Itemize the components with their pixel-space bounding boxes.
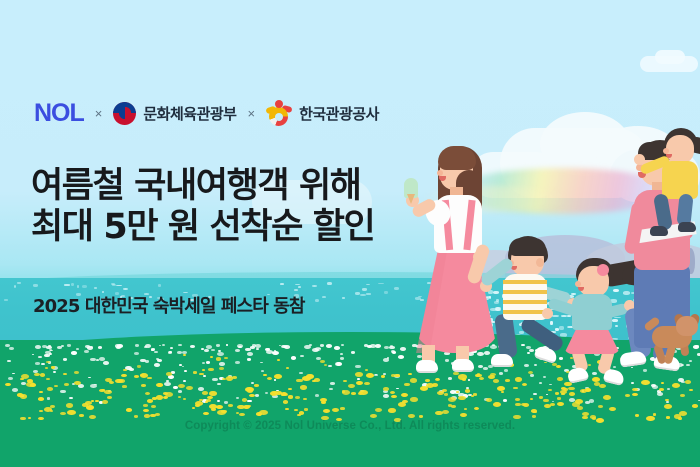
mother-hair-front — [438, 146, 476, 170]
subheadline: 2025 대한민국 숙박세일 페스타 동참 — [33, 292, 305, 318]
promo-banner: NOL × 문화체육관광부 × 한국관광공사 여름철 국내여행객 위해 최대 5… — [0, 0, 700, 467]
boy-shirt-stripe — [503, 300, 547, 304]
cloud-small-top-2 — [655, 50, 685, 64]
logo-separator-icon-1: × — [95, 106, 103, 121]
nol-brand-logo[interactable]: NOL — [34, 101, 84, 126]
mother-shoe-right — [452, 359, 474, 372]
child-shoe-front — [650, 226, 668, 236]
dog-figure — [642, 312, 700, 370]
boy-shirt-stripe — [503, 310, 547, 314]
boy-shirt-stripe — [503, 290, 547, 294]
boy-hand-front — [473, 251, 485, 263]
kto-logo-icon — [266, 100, 292, 126]
boy-shoe-back — [491, 354, 513, 367]
kto-logo-hole — [275, 113, 283, 121]
girl-hand-back — [542, 308, 553, 319]
partner-logo-mcst[interactable]: 문화체육관광부 — [113, 102, 236, 125]
child-on-shoulders-figure — [658, 128, 700, 238]
boy-ear — [536, 258, 544, 267]
child-hand — [634, 154, 645, 165]
partner-logo-row: NOL × 문화체육관광부 × 한국관광공사 — [34, 96, 379, 130]
partner-logo-kto-label: 한국관광공사 — [299, 103, 379, 124]
mother-shoe-left — [416, 360, 438, 373]
boy-hair-fringe — [509, 238, 546, 256]
child-shoe-back — [678, 222, 696, 232]
child-head — [666, 135, 694, 164]
taegeuk-icon — [113, 102, 136, 125]
headline-block: 여름철 국내여행객 위해 최대 5만 원 선착순 할인 — [31, 166, 374, 247]
headline-line-1: 여름철 국내여행객 위해 — [31, 166, 374, 207]
partner-logo-mcst-label: 문화체육관광부 — [143, 103, 236, 124]
headline-line-2: 최대 5만 원 선착순 할인 — [31, 207, 374, 248]
logo-separator-icon-2: × — [247, 106, 255, 121]
boy-shirt-stripe — [503, 280, 547, 284]
copyright-text: Copyright © 2025 Nol Universe Co., Ltd. … — [0, 420, 700, 432]
girl-hair-tie — [597, 264, 609, 276]
partner-logo-kto[interactable]: 한국관광공사 — [266, 100, 379, 126]
child-shirt — [662, 161, 698, 199]
dog-head — [676, 316, 698, 336]
